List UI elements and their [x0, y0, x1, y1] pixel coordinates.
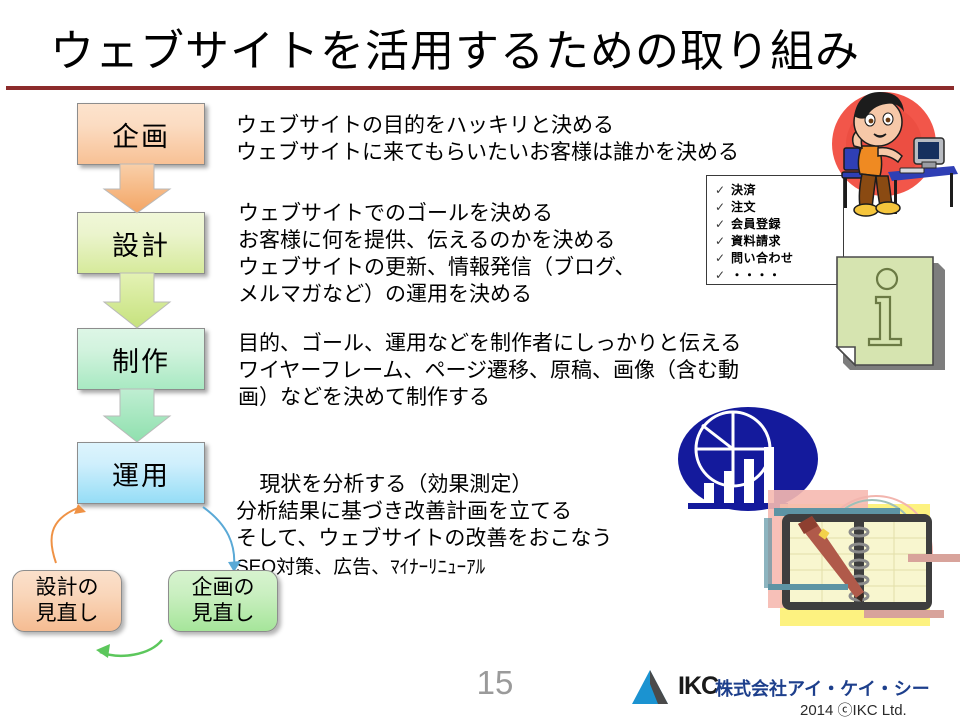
person-at-computer-illustration — [822, 86, 960, 226]
notebook-planner-illustration — [760, 480, 960, 645]
flow-step-label: 設計 — [112, 224, 170, 263]
feedback-label-line2: 見直し — [192, 601, 255, 627]
feedback-box-planning-review[interactable]: 企画の 見直し — [168, 570, 278, 632]
check-icon: ✓ — [715, 233, 731, 249]
flow-step-planning[interactable]: 企画 — [77, 103, 205, 165]
list-item: ✓ 資料請求 — [715, 233, 843, 249]
list-item-label: 資料請求 — [731, 233, 781, 249]
check-icon: ✓ — [715, 216, 731, 232]
list-item-label: 決済 — [731, 182, 756, 198]
feedback-label-line1: 企画の — [192, 575, 255, 601]
flow-step-label: 運用 — [112, 454, 170, 493]
company-name: 株式会社アイ・ケイ・シー — [715, 675, 930, 701]
information-document-icon — [835, 255, 945, 373]
arrow-down-production-to-operation-icon — [102, 388, 182, 444]
ikc-logo-icon — [630, 668, 676, 706]
description-production: 目的、ゴール、運用などを制作者にしっかりと伝える ワイヤーフレーム、ページ遷移、… — [238, 330, 741, 411]
arrow-down-planning-to-design-icon — [102, 163, 182, 215]
check-icon: ✓ — [715, 199, 731, 215]
description-planning: ウェブサイトの目的をハッキリと決める ウェブサイトに来てもらいたいお客様は誰かを… — [236, 112, 739, 166]
logo-wordmark: IKC — [678, 672, 718, 701]
arrow-down-design-to-production-icon — [102, 272, 182, 330]
list-item-label: 注文 — [731, 199, 756, 215]
list-item-label: 会員登録 — [731, 216, 781, 232]
list-item: ✓ 問い合わせ — [715, 250, 843, 266]
page-number: 15 — [455, 664, 535, 702]
check-icon: ✓ — [715, 250, 731, 266]
description-operation: 現状を分析する（効果測定） 分析結果に基づき改善計画を立てる そして、ウェブサイ… — [236, 444, 612, 608]
feedback-label-line1: 設計の — [36, 575, 99, 601]
flow-step-production[interactable]: 制作 — [77, 328, 205, 390]
feedback-label-line2: 見直し — [36, 601, 99, 627]
list-item: ✓ ・・・・ — [715, 267, 843, 283]
copyright-text: 2014 ⓒIKC Ltd. — [800, 699, 907, 720]
description-operation-lines: 現状を分析する（効果測定） 分析結果に基づき改善計画を立てる そして、ウェブサイ… — [236, 473, 612, 550]
check-icon: ✓ — [715, 182, 731, 198]
slide-canvas: ウェブサイトを活用するための取り組み 企画 設計 制作 運用 — [0, 0, 960, 720]
flow-step-label: 制作 — [112, 340, 170, 379]
list-item-label: 問い合わせ — [731, 250, 794, 266]
flow-step-design[interactable]: 設計 — [77, 212, 205, 274]
feedback-box-design-review[interactable]: 設計の 見直し — [12, 570, 122, 632]
page-title: ウェブサイトを活用するための取り組み — [50, 24, 920, 80]
list-item-label: ・・・・ — [731, 267, 781, 283]
flow-step-operation[interactable]: 運用 — [77, 442, 205, 504]
check-icon: ✓ — [715, 267, 731, 283]
description-design: ウェブサイトでのゴールを決める お客様に何を提供、伝えるのかを決める ウェブサイ… — [238, 200, 636, 308]
title-divider — [6, 86, 954, 90]
flow-step-label: 企画 — [112, 115, 170, 154]
